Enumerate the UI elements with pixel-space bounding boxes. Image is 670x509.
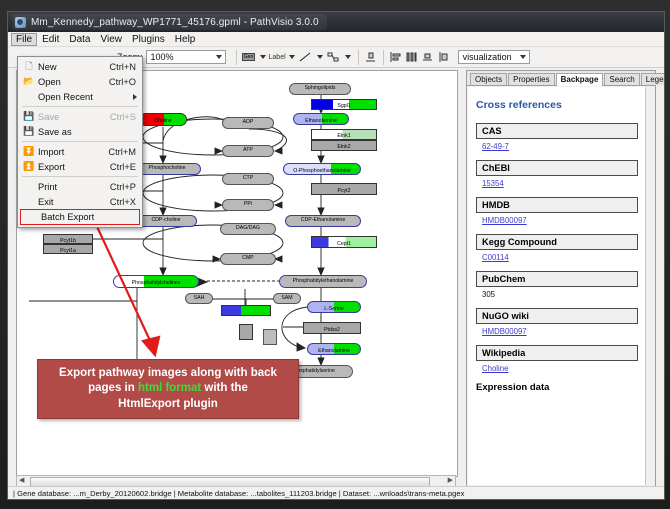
- file-menu-separator-2: [22, 141, 138, 142]
- file-menu-separator-1: [22, 106, 138, 107]
- gene-etnk2[interactable]: Etnk2: [311, 140, 377, 151]
- node-phosphatidylethanolamine[interactable]: Phosphatidylethanolamine: [279, 275, 367, 288]
- datanode-tool-icon[interactable]: Gen: [241, 49, 257, 65]
- node-o-phosphoethanolamine[interactable]: O-Phosphoethanolamine: [283, 163, 361, 175]
- file-menu-save: 💾 Save Ctrl+S: [18, 109, 142, 124]
- file-menu-open-recent[interactable]: Open Recent: [18, 89, 142, 104]
- node-ethanolamine-2[interactable]: Ethanolamine: [307, 343, 361, 355]
- menubar: File Edit Data View Plugins Help: [8, 32, 664, 47]
- xref-source-nugo: NuGO wiki: [476, 308, 638, 324]
- node-grey-block-2[interactable]: [263, 329, 277, 345]
- node-l-serine[interactable]: L-Serine: [307, 301, 361, 313]
- export-icon: ⏫: [20, 161, 38, 172]
- visualization-value: visualization: [463, 52, 512, 62]
- gene-pcyt2[interactable]: Pcyt2: [311, 183, 377, 195]
- xref-source-pubchem: PubChem: [476, 271, 638, 287]
- align-center-icon[interactable]: [420, 49, 436, 65]
- screenshot-root: Mm_Kennedy_pathway_WP1771_45176.gpml - P…: [0, 0, 670, 509]
- xref-source-cas: CAS: [476, 123, 638, 139]
- align-left-icon[interactable]: [388, 49, 404, 65]
- interaction-dropdown-icon[interactable]: [345, 55, 351, 59]
- label-tool-icon[interactable]: Label: [269, 54, 286, 61]
- statusbar-text: | Gene database: ...m_Derby_20120602.bri…: [8, 489, 464, 498]
- group-icon[interactable]: [436, 49, 452, 65]
- xref-value-pubchem: 305: [482, 290, 638, 299]
- menu-edit[interactable]: Edit: [37, 33, 64, 46]
- xref-source-hmdb: HMDB: [476, 197, 638, 213]
- node-cdp-ethanolamine[interactable]: CDP-Ethanolamine: [285, 215, 361, 227]
- backpage-vscrollbar[interactable]: [645, 87, 654, 485]
- datanode-dropdown-icon[interactable]: [260, 55, 266, 59]
- menu-help[interactable]: Help: [170, 33, 201, 46]
- file-menu-exit[interactable]: Exit Ctrl+X: [18, 194, 142, 209]
- menu-plugins[interactable]: Plugins: [127, 33, 170, 46]
- node-choline-top[interactable]: Choline: [139, 113, 187, 126]
- menu-file[interactable]: File: [11, 33, 37, 46]
- xref-link-chebi[interactable]: 15354: [482, 179, 638, 188]
- submenu-arrow-icon: [133, 94, 137, 100]
- tab-objects[interactable]: Objects: [470, 73, 507, 86]
- gene-ptdss2[interactable]: Ptdss2: [303, 322, 361, 334]
- side-panel: Objects Properties Backpage Search Legen…: [466, 70, 656, 487]
- side-panel-tabs: Objects Properties Backpage Search Legen…: [467, 71, 655, 86]
- chevron-down-icon: [216, 55, 222, 59]
- pathvisio-app-icon: [15, 17, 26, 28]
- statusbar: | Gene database: ...m_Derby_20120602.bri…: [8, 486, 664, 499]
- save-as-icon: 💾: [20, 126, 38, 137]
- file-menu-open[interactable]: 📂 Open Ctrl+O: [18, 74, 142, 89]
- xref-link-wikipedia[interactable]: Choline: [482, 364, 638, 373]
- xref-source-chebi: ChEBI: [476, 160, 638, 176]
- file-menu-import[interactable]: ⏬ Import Ctrl+M: [18, 144, 142, 159]
- menu-data[interactable]: Data: [64, 33, 95, 46]
- datanode-glyph: Gen: [242, 53, 255, 61]
- zoom-combobox[interactable]: 100%: [146, 50, 226, 64]
- file-menu-separator-3: [22, 176, 138, 177]
- file-menu-export[interactable]: ⏫ Export Ctrl+E: [18, 159, 142, 174]
- toolbar-divider-3: [383, 50, 384, 65]
- gene-cept1[interactable]: Cept1: [311, 236, 377, 248]
- folder-open-icon: 📂: [20, 76, 38, 87]
- file-menu-save-as[interactable]: 💾 Save as: [18, 124, 142, 139]
- file-menu-print[interactable]: Print Ctrl+P: [18, 179, 142, 194]
- save-disk-icon: 💾: [20, 111, 38, 122]
- window-titlebar: Mm_Kennedy_pathway_WP1771_45176.gpml - P…: [8, 12, 664, 32]
- node-sam[interactable]: SAM: [273, 293, 301, 304]
- file-menu-new[interactable]: 🗋 New Ctrl+N: [18, 59, 142, 74]
- file-menu-dropdown: 🗋 New Ctrl+N 📂 Open Ctrl+O Open Recent 💾…: [17, 56, 143, 228]
- node-ethanolamine-1[interactable]: Ethanolamine: [293, 113, 349, 125]
- zoom-value: 100%: [151, 52, 174, 62]
- xref-source-kegg: Kegg Compound: [476, 234, 638, 250]
- tab-properties[interactable]: Properties: [508, 73, 554, 86]
- node-adp[interactable]: ADP: [222, 117, 274, 129]
- xref-link-cas[interactable]: 62-49-7: [482, 142, 638, 151]
- expression-data-heading: Expression data: [476, 382, 638, 393]
- chevron-down-icon: [520, 55, 526, 59]
- backpage-content: Cross references CAS 62-49-7 ChEBI 15354…: [468, 87, 646, 485]
- xref-link-hmdb[interactable]: HMDB00097: [482, 216, 638, 225]
- xref-link-nugo[interactable]: HMDB00097: [482, 327, 638, 336]
- xref-source-wikipedia: Wikipedia: [476, 345, 638, 361]
- pathvisio-window: Mm_Kennedy_pathway_WP1771_45176.gpml - P…: [7, 11, 665, 500]
- new-file-icon: 🗋: [20, 59, 38, 75]
- gene-sgpl1[interactable]: Sgpl1: [311, 99, 377, 110]
- interaction-tool-icon[interactable]: [326, 49, 342, 65]
- tab-search[interactable]: Search: [604, 73, 639, 86]
- tab-backpage[interactable]: Backpage: [556, 73, 604, 87]
- toolbar-divider-2: [358, 50, 359, 65]
- line-dropdown-icon[interactable]: [317, 55, 323, 59]
- visualization-combobox[interactable]: visualization: [458, 50, 530, 64]
- menu-view[interactable]: View: [95, 33, 127, 46]
- node-atp[interactable]: ATP: [222, 145, 274, 157]
- scroll-right-icon[interactable]: ▶: [448, 477, 453, 485]
- node-sphingolipids[interactable]: Sphingolipids: [289, 83, 351, 95]
- file-menu-batch-export[interactable]: Batch Export: [20, 209, 140, 225]
- tab-legend[interactable]: Legend: [641, 73, 665, 86]
- toolbar-divider: [236, 50, 237, 65]
- window-title: Mm_Kennedy_pathway_WP1771_45176.gpml - P…: [31, 17, 319, 28]
- distribute-icon[interactable]: [404, 49, 420, 65]
- label-dropdown-icon[interactable]: [289, 55, 295, 59]
- backpage-title: Cross references: [476, 99, 638, 111]
- line-tool-icon[interactable]: [298, 49, 314, 65]
- xref-link-kegg[interactable]: C00114: [482, 253, 638, 262]
- import-icon: ⏬: [20, 146, 38, 157]
- align-top-icon[interactable]: [363, 49, 379, 65]
- scroll-left-icon[interactable]: ◀: [19, 477, 24, 485]
- gene-etnk1[interactable]: Etnk1: [311, 129, 377, 140]
